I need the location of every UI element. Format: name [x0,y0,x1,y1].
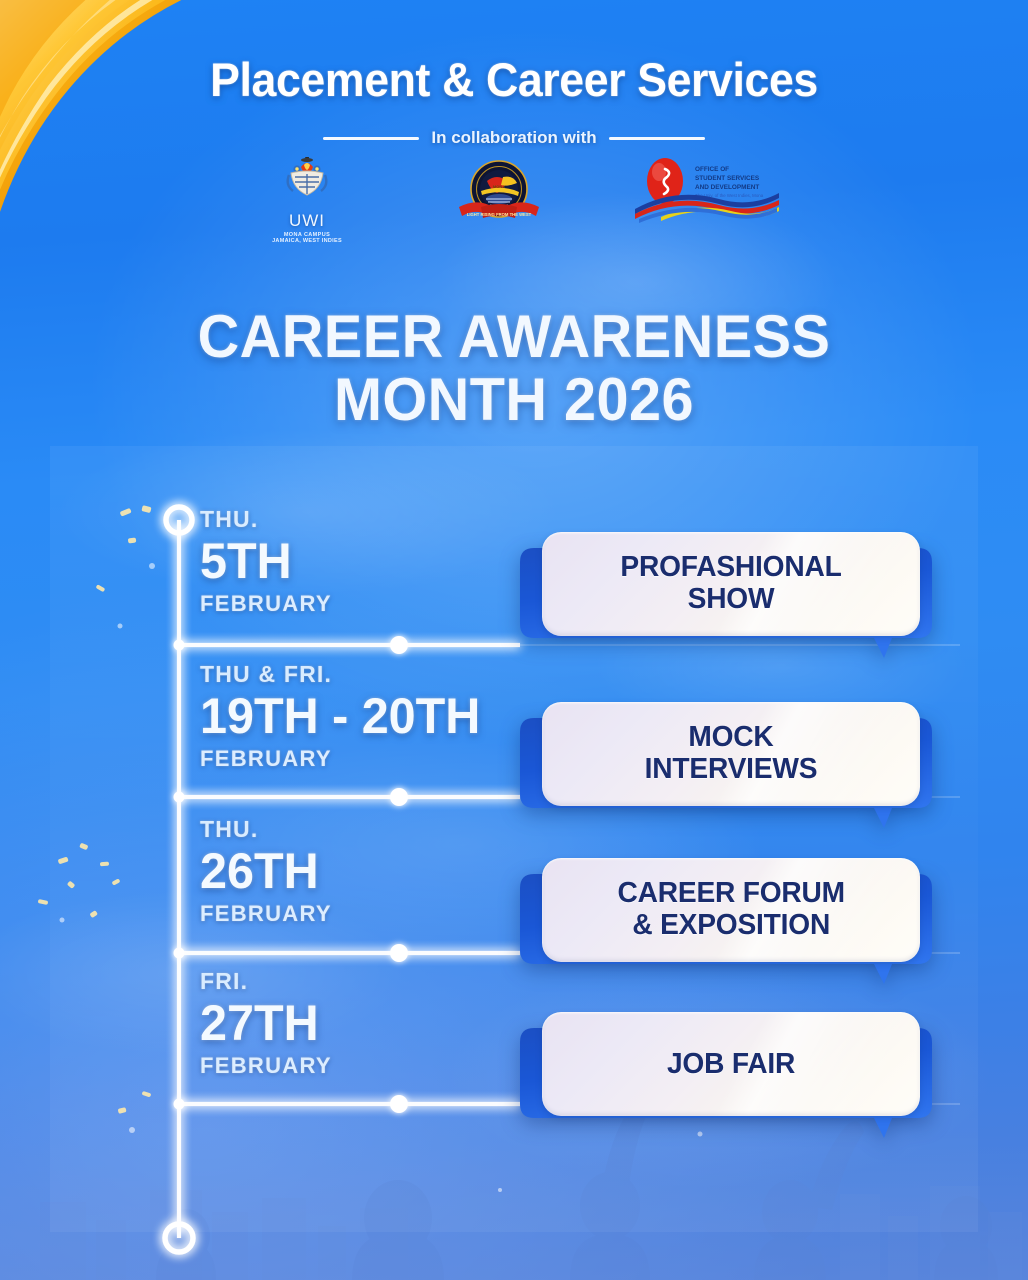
svg-text:MONA: MONA [493,184,505,189]
date-2-date: 26TH [200,845,328,898]
partner-logos: UWI MONA CAMPUS JAMAICA, WEST INDIES MON… [0,157,1028,244]
date-1-dayofweek: THU & FRI. [200,663,489,686]
event-0-line1: PROFASHIONAL [620,551,841,583]
student-services-icon: OFFICE OF STUDENT SERVICES AND DEVELOPME… [631,157,781,223]
main-title: CAREER AWARENESS MONTH 2026 [21,305,1008,431]
event-card-3-label: JOB FAIR [653,1050,808,1079]
date-3-date: 27TH [200,997,328,1050]
event-1-line2: INTERVIEWS [645,753,818,785]
poster-root: Placement & Career Services In collabora… [0,0,1028,1280]
timeline-node-end [165,1224,193,1252]
main-title-line2: MONTH 2026 [21,368,1008,431]
uwi-acronym: UWI [289,211,325,231]
timeline-node-start [166,507,192,533]
svg-text:LIGHT RISING FROM THE WEST: LIGHT RISING FROM THE WEST [467,212,532,217]
uwi-campus-line2: JAMAICA, WEST INDIES [272,238,342,244]
svg-text:AND DEVELOPMENT: AND DEVELOPMENT [695,184,759,191]
date-2-dayofweek: THU. [200,818,332,841]
timeline-date-2: THU. 26TH FEBRUARY [200,818,332,925]
event-card-0[interactable]: PROFASHIONAL SHOW [510,528,940,658]
event-2-line2: & EXPOSITION [632,909,830,941]
rule-right [609,137,705,140]
event-card-1-face[interactable]: MOCK INTERVIEWS [542,702,920,806]
svg-text:OFFICE OF: OFFICE OF [695,166,729,173]
university-seal-icon: MONA LIGHT RISING FROM THE WEST [447,157,551,229]
event-2-line1: CAREER FORUM [617,877,844,909]
poster-header: Placement & Career Services In collabora… [0,56,1028,244]
date-0-dayofweek: THU. [200,508,332,531]
event-card-2-label: CAREER FORUM & EXPOSITION [604,878,859,942]
university-seal-logo: MONA LIGHT RISING FROM THE WEST [439,157,559,229]
event-card-0-face[interactable]: PROFASHIONAL SHOW [542,532,920,636]
office-student-services-logo: OFFICE OF STUDENT SERVICES AND DEVELOPME… [631,157,781,223]
event-card-2[interactable]: CAREER FORUM & EXPOSITION [510,854,940,984]
event-card-3[interactable]: JOB FAIR [510,1008,940,1138]
timeline-date-1: THU & FRI. 19TH - 20TH FEBRUARY [200,663,489,770]
rule-left [323,137,419,140]
uwi-crest-icon [277,157,337,209]
event-3-line1: JOB FAIR [667,1048,795,1080]
date-0-date: 5TH [200,535,328,588]
date-0-month: FEBRUARY [200,593,332,615]
event-card-1-label: MOCK INTERVIEWS [631,722,831,786]
uwi-crest-logo: UWI MONA CAMPUS JAMAICA, WEST INDIES [247,157,367,244]
date-2-month: FEBRUARY [200,903,332,925]
event-card-2-face[interactable]: CAREER FORUM & EXPOSITION [542,858,920,962]
event-card-1[interactable]: MOCK INTERVIEWS [510,698,940,828]
event-card-0-label: PROFASHIONAL SHOW [607,552,855,616]
collaboration-row: In collaboration with [0,128,1028,148]
page-title: Placement & Career Services [26,56,1003,103]
date-1-date: 19TH - 20TH [200,690,480,743]
timeline-date-3: FRI. 27TH FEBRUARY [200,970,332,1077]
event-0-line2: SHOW [688,583,775,615]
date-3-month: FEBRUARY [200,1055,332,1077]
event-1-line1: MOCK [688,721,773,753]
timeline-date-0: THU. 5TH FEBRUARY [200,508,332,615]
svg-text:STUDENT SERVICES: STUDENT SERVICES [695,175,760,182]
main-title-line1: CAREER AWARENESS [21,305,1008,368]
date-3-dayofweek: FRI. [200,970,332,993]
event-card-3-face[interactable]: JOB FAIR [542,1012,920,1116]
date-1-month: FEBRUARY [200,748,489,770]
collaboration-label: In collaboration with [431,128,596,148]
